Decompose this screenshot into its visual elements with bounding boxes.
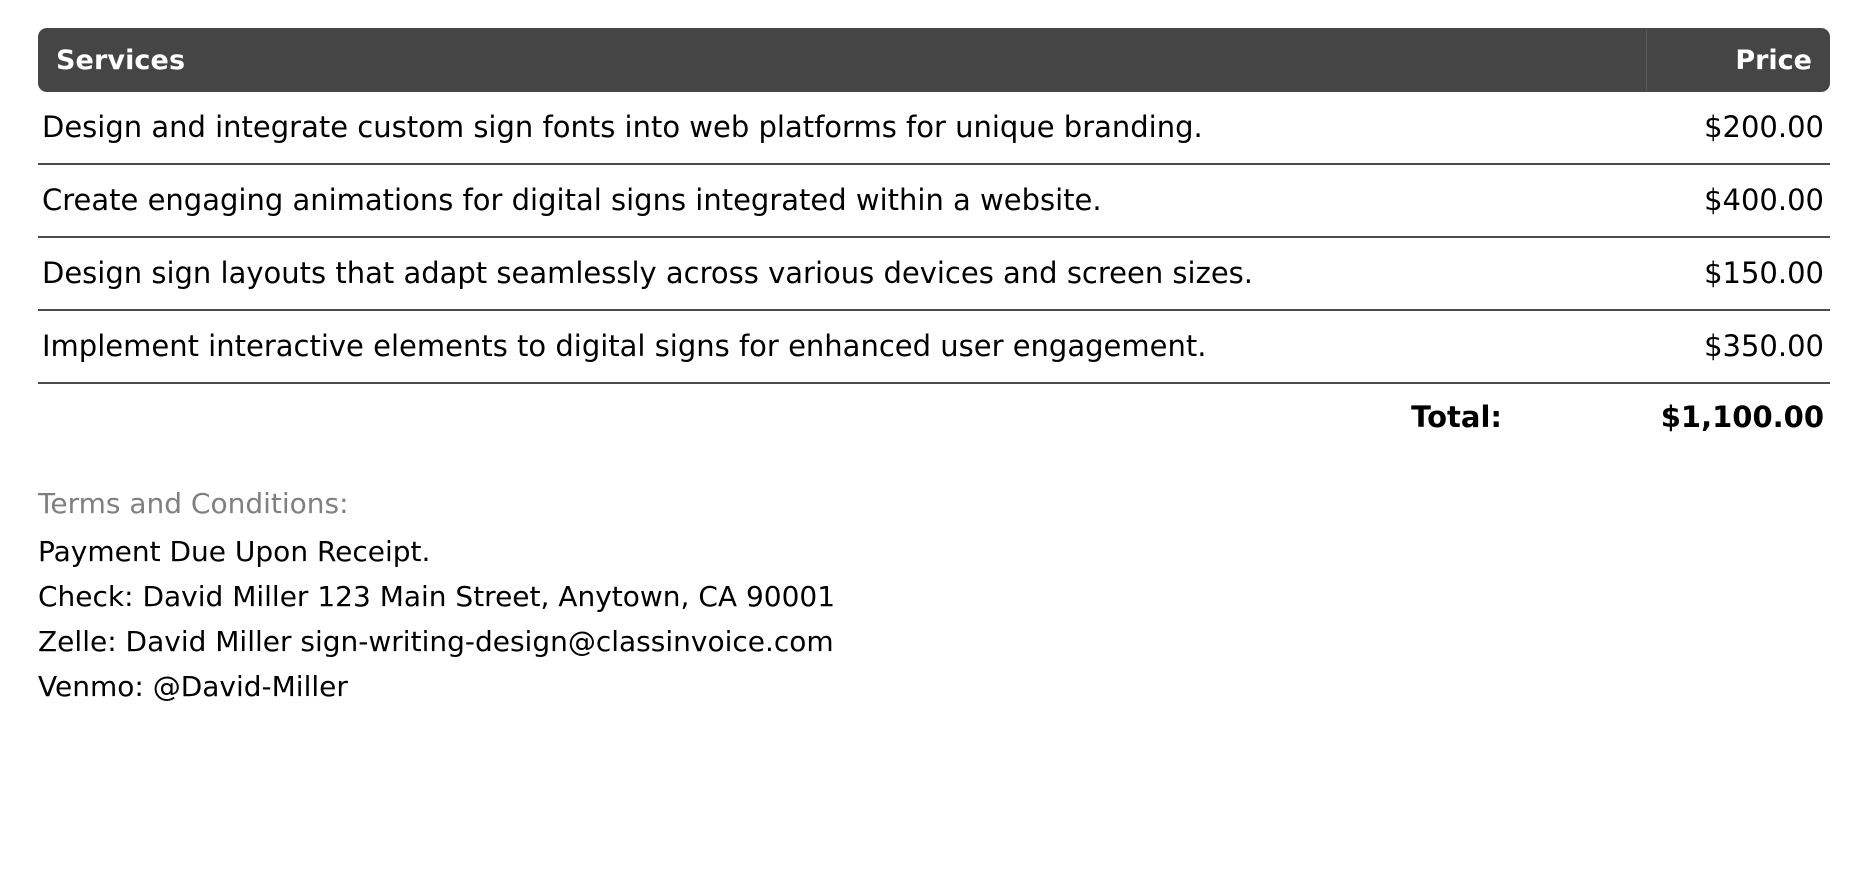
service-price: $150.00 xyxy=(1574,257,1830,290)
table-total-row: Total: $1,100.00 xyxy=(38,384,1830,450)
terms-line-zelle: Zelle: David Miller sign-writing-design@… xyxy=(38,625,1538,658)
terms-line-payment-due: Payment Due Upon Receipt. xyxy=(38,535,1538,568)
invoice-page: Services Price Design and integrate cust… xyxy=(0,0,1868,870)
terms-and-conditions-section: Terms and Conditions: Payment Due Upon R… xyxy=(38,487,1538,703)
service-description: Design sign layouts that adapt seamlessl… xyxy=(38,257,1574,290)
column-header-services: Services xyxy=(38,28,1646,92)
service-description: Create engaging animations for digital s… xyxy=(38,184,1574,217)
table-row: Create engaging animations for digital s… xyxy=(38,165,1830,238)
table-row: Design sign layouts that adapt seamlessl… xyxy=(38,238,1830,311)
service-price: $200.00 xyxy=(1574,111,1830,144)
services-price-table: Services Price Design and integrate cust… xyxy=(38,28,1830,450)
service-description: Design and integrate custom sign fonts i… xyxy=(38,111,1574,144)
table-row: Implement interactive elements to digita… xyxy=(38,311,1830,384)
table-row: Design and integrate custom sign fonts i… xyxy=(38,92,1830,165)
terms-heading: Terms and Conditions: xyxy=(38,487,1538,520)
service-price: $350.00 xyxy=(1574,330,1830,363)
total-label: Total: xyxy=(1411,400,1574,434)
table-header-row: Services Price xyxy=(38,28,1830,92)
service-price: $400.00 xyxy=(1574,184,1830,217)
total-amount: $1,100.00 xyxy=(1574,400,1830,434)
column-header-price: Price xyxy=(1646,28,1830,92)
terms-line-venmo: Venmo: @David-Miller xyxy=(38,670,1538,703)
service-description: Implement interactive elements to digita… xyxy=(38,330,1574,363)
terms-line-check: Check: David Miller 123 Main Street, Any… xyxy=(38,580,1538,613)
